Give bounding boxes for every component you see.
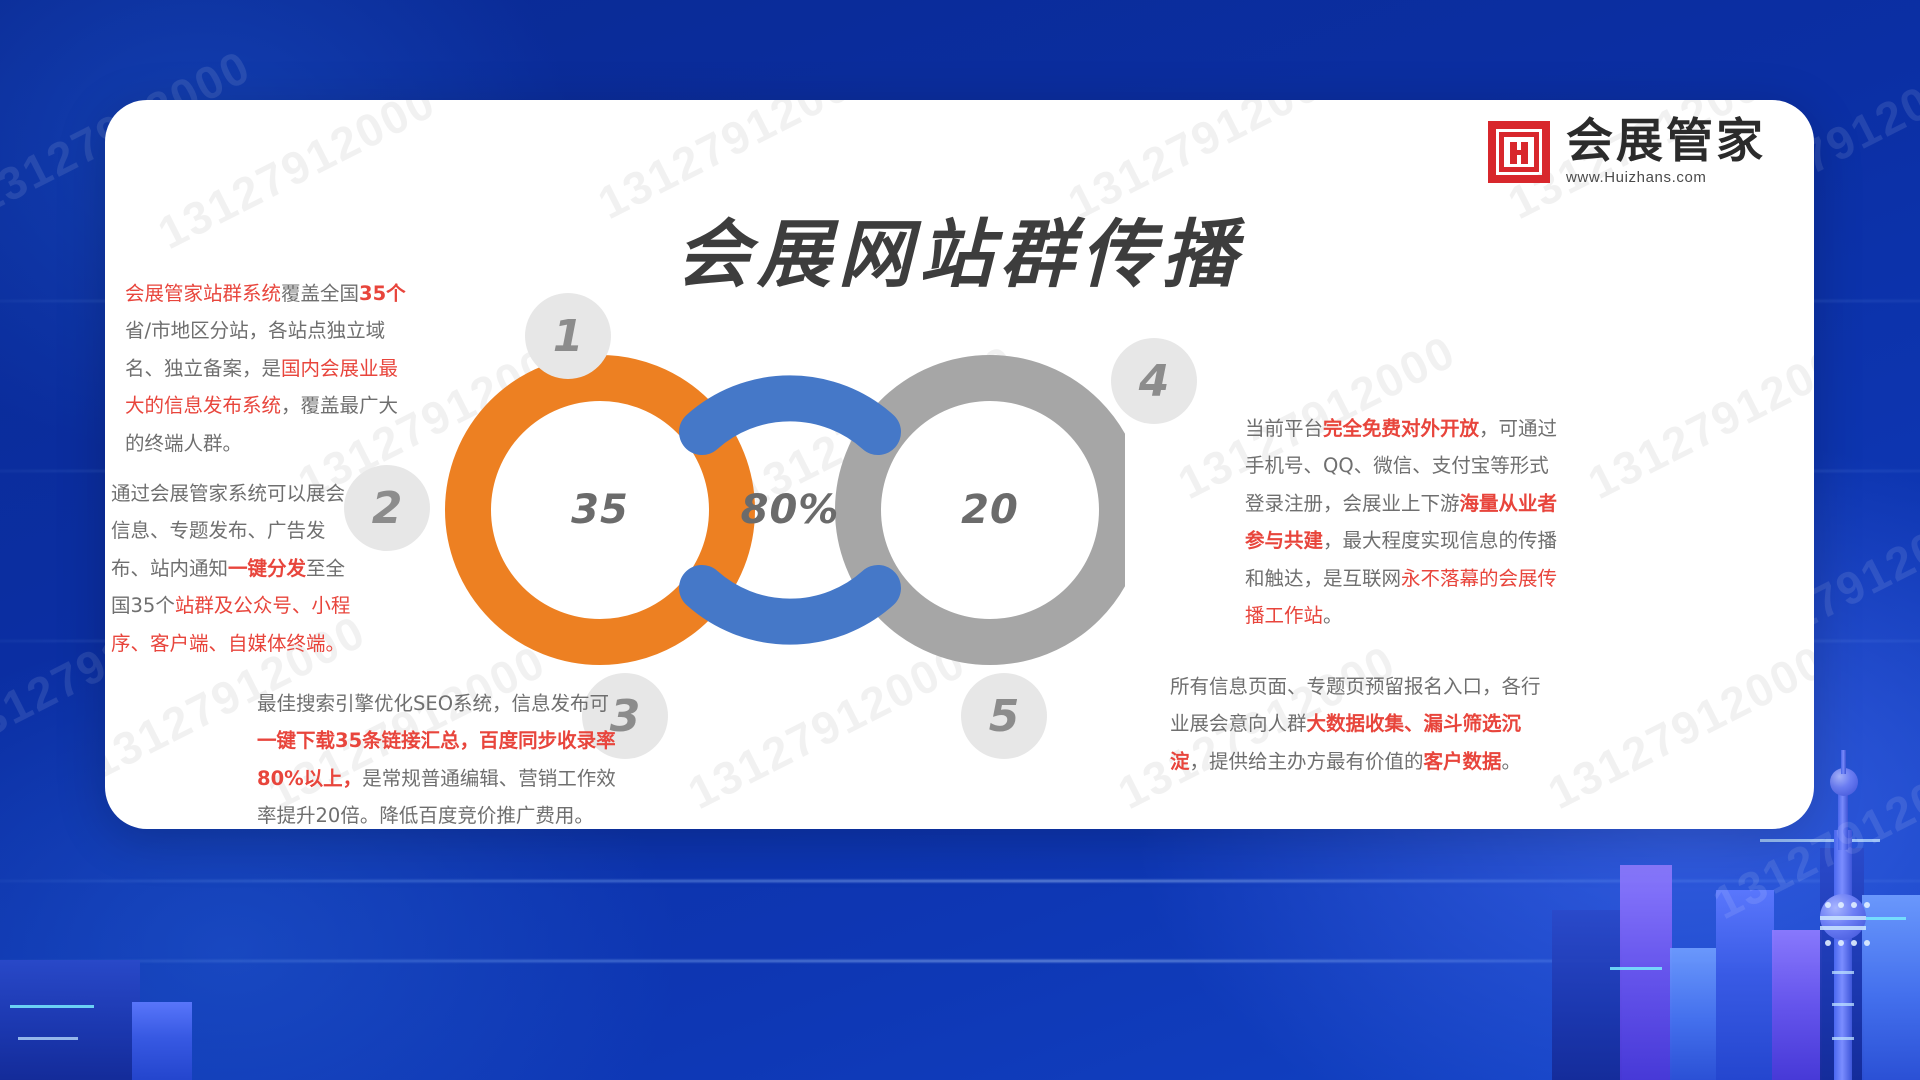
watermark: 13127912000 <box>1539 634 1814 820</box>
logo-name: 会展管家 <box>1566 118 1766 166</box>
badge-1[interactable]: 1 <box>525 293 611 379</box>
ring-blue-bottom <box>702 588 878 622</box>
logo-url: www.Huizhans.com <box>1566 169 1706 186</box>
badge-5[interactable]: 5 <box>961 673 1047 759</box>
text-block-4: 当前平台完全免费对外开放，可通过手机号、QQ、微信、支付宝等形式登录注册，会展业… <box>1245 410 1565 635</box>
text-block-5: 所有信息页面、专题页预留报名入口，各行业展会意向人群大数据收集、漏斗筛选沉淀，提… <box>1170 668 1542 780</box>
text-block-3: 最佳搜索引擎优化SEO系统，信息发布可一键下载35条链接汇总，百度同步收录率80… <box>257 685 617 829</box>
watermark: 13127912000 <box>1579 324 1814 510</box>
ring-value-blue: 80% <box>741 487 840 533</box>
infographic-card: 13127912000 13127912000 13127912000 1312… <box>105 100 1814 829</box>
logo-mark-icon <box>1488 121 1550 183</box>
text-block-2: 通过会展管家系统可以展会信息、专题发布、广告发布、站内通知一键分发至全国35个站… <box>111 475 361 662</box>
ring-value-orange: 35 <box>571 487 629 533</box>
ring-value-gray: 20 <box>961 487 1019 533</box>
badge-4[interactable]: 4 <box>1111 338 1197 424</box>
ring-blue-top <box>702 398 878 432</box>
brand-logo[interactable]: 会展管家 www.Huizhans.com <box>1488 118 1766 186</box>
text-block-1: 会展管家站群系统覆盖全国35个省/市地区分站，各站点独立域名、独立备案，是国内会… <box>125 275 415 462</box>
rings-diagram: 35 80% 20 <box>400 330 1125 690</box>
